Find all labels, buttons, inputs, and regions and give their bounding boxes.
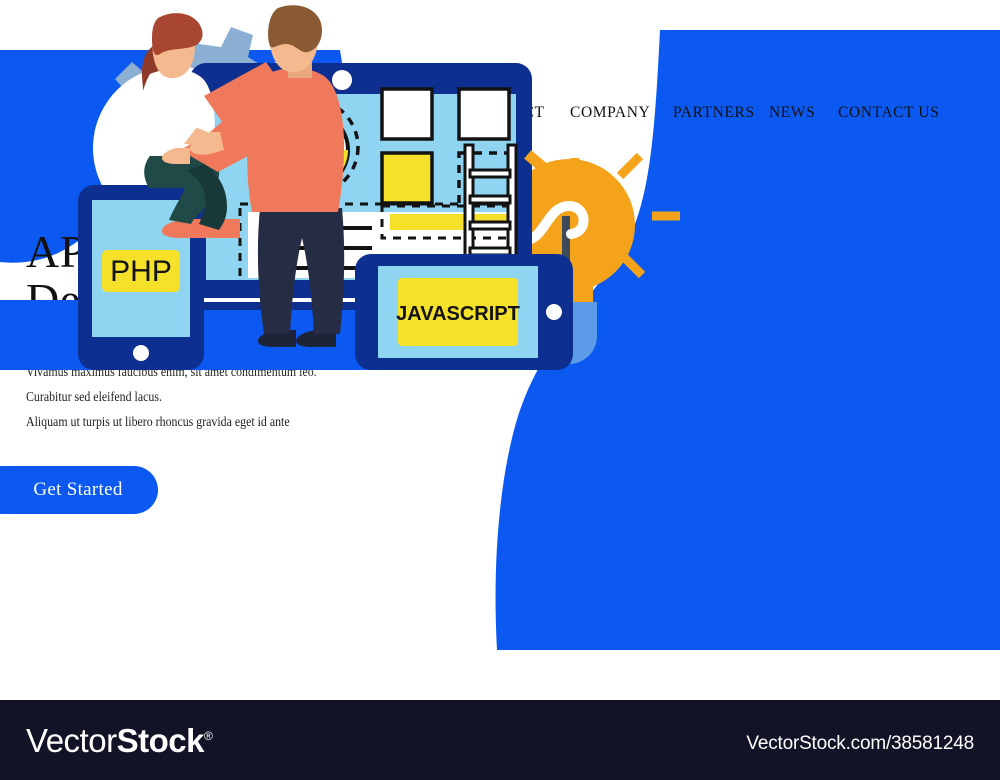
landing-page-mockup: PRODUCT COMPANY PARTNERS NEWS CONTACT US…	[0, 0, 1000, 780]
php-tablet-home-button	[133, 345, 149, 361]
man-shirt	[247, 68, 344, 212]
nav-item-news[interactable]: NEWS	[769, 98, 815, 128]
ui-square-1	[382, 89, 432, 139]
php-label-text: PHP	[110, 255, 172, 288]
ui-square-dashed-1	[536, 89, 586, 139]
ui-square-2	[459, 89, 509, 139]
hero-paragraph-line-4: Aliquam ut turpis ut libero rhoncus grav…	[26, 409, 327, 434]
watermark-url: VectorStock.com/38581248	[746, 733, 974, 755]
logo-thin-part: Vector	[26, 722, 117, 759]
vectorstock-logo: VectorStock®	[26, 722, 212, 760]
hero-paragraph-line-3: Curabitur sed eleifend lacus.	[26, 384, 327, 409]
js-label-text: JAVASCRIPT	[396, 303, 520, 325]
ui-square-yellow	[382, 153, 432, 203]
nav-item-partners[interactable]: PARTNERS	[673, 98, 755, 128]
js-tablet-home-button	[546, 304, 562, 320]
tablet-landscape-javascript: JAVASCRIPT	[355, 254, 573, 370]
get-started-button[interactable]: Get Started	[0, 466, 158, 514]
watermark-bar: VectorStock® VectorStock.com/38581248	[0, 700, 1000, 780]
logo-bold-part: Stock	[117, 722, 204, 759]
registered-mark: ®	[204, 729, 212, 743]
man-hair	[268, 5, 322, 52]
nav-item-contact-us[interactable]: CONTACT US	[838, 98, 939, 128]
app-development-illustration: PHP	[0, 0, 680, 375]
monitor-camera-dot	[332, 70, 352, 90]
